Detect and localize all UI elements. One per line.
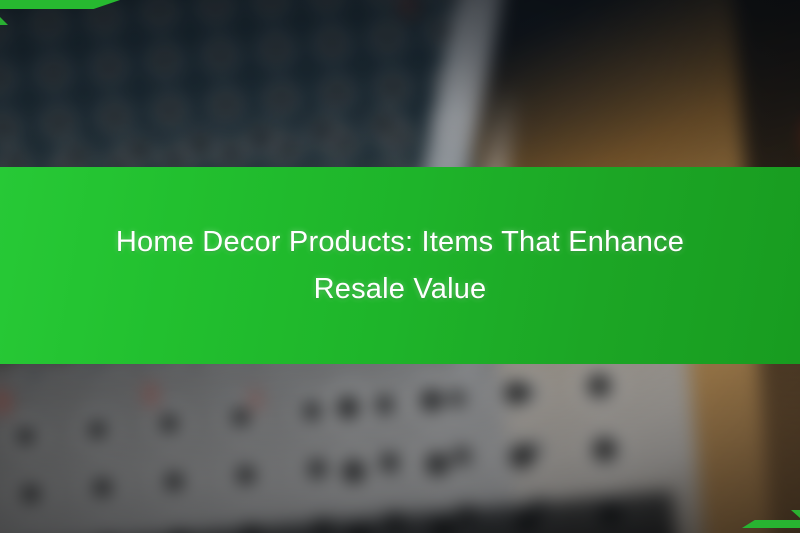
title-banner: Home Decor Products: Items That Enhance …	[0, 167, 800, 364]
hero-banner-card: Home Decor Products: Items That Enhance …	[0, 0, 800, 533]
page-title: Home Decor Products: Items That Enhance …	[0, 219, 800, 313]
